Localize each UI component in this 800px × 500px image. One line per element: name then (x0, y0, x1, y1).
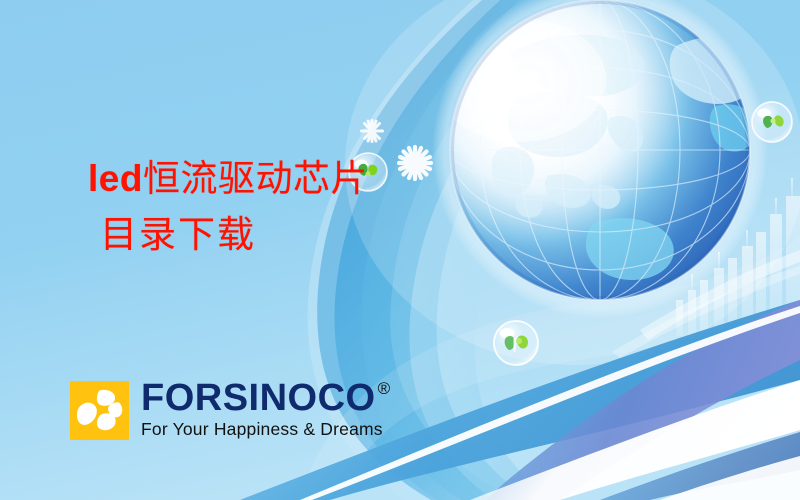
wordmark-text: FORSINOCO (141, 379, 376, 417)
earth-globe-graphic (432, 0, 768, 318)
bubble-sprout-mid (494, 321, 538, 365)
headline-line-2: 目录下载 (100, 216, 368, 255)
logo-text-block: FORSINOCO® For Your Happiness & Dreams (141, 379, 391, 440)
headline-line-1: led恒流驱动芯片 (88, 160, 368, 199)
bubble-sprout-right (752, 102, 792, 142)
headline-han: 恒流驱动芯片 (143, 157, 368, 200)
headline-block: led恒流驱动芯片 目录下载 (88, 160, 368, 255)
starburst-large (399, 147, 431, 179)
starburst-small (362, 121, 383, 142)
registered-trademark-icon: ® (378, 380, 391, 397)
four-petal-pinwheel-icon (70, 381, 129, 440)
company-logo: FORSINOCO® For Your Happiness & Dreams (70, 381, 391, 440)
tagline: For Your Happiness & Dreams (141, 419, 391, 440)
wordmark: FORSINOCO® (141, 379, 391, 417)
city-skyline-silhouette (676, 178, 800, 336)
headline-latin: led (88, 158, 143, 199)
promo-banner: led恒流驱动芯片 目录下载 FORSINOCO® For (0, 0, 800, 500)
